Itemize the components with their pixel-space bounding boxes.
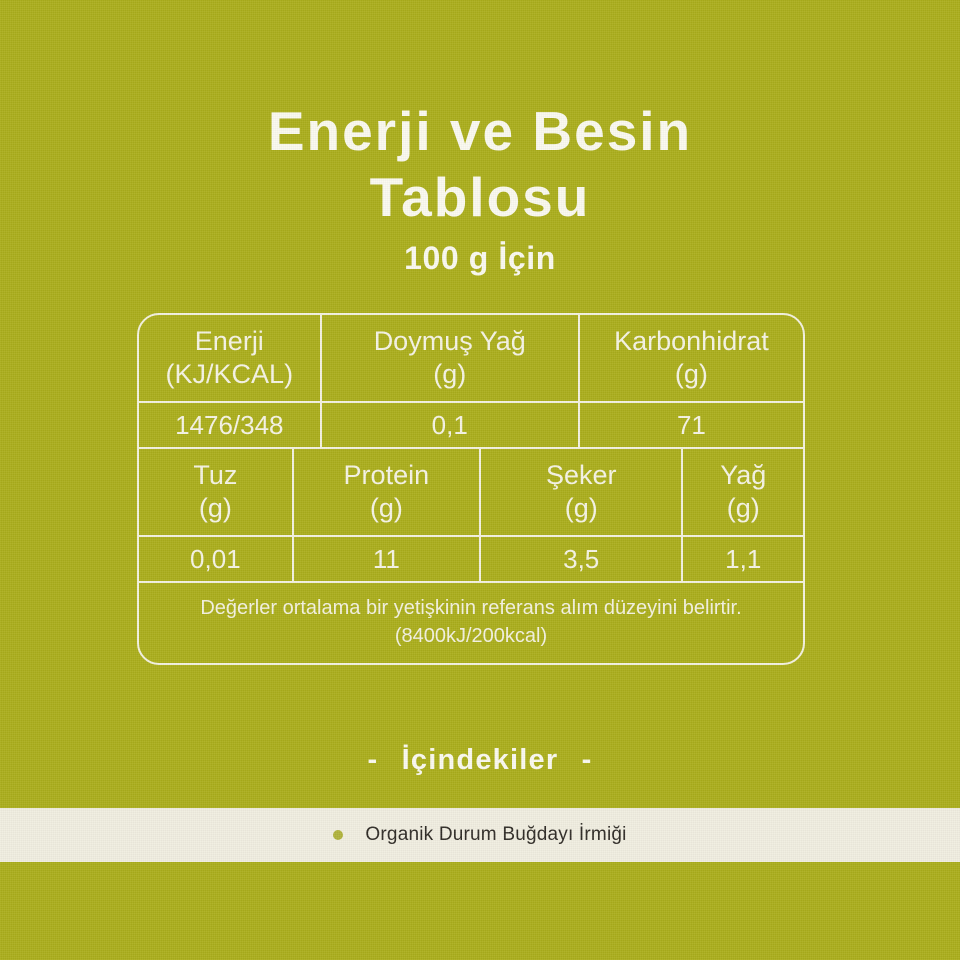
ingredient-strip: Organik Durum Buğdayı İrmiği <box>0 808 960 862</box>
table-value-cell-energy: 1476/348 <box>139 403 320 447</box>
header-unit: (g) <box>565 492 598 525</box>
table-value-cell-sugar: 3,5 <box>479 537 682 581</box>
table-header-row-2: Tuz (g) Protein (g) Şeker (g) Yağ (g) <box>139 447 803 535</box>
bullet-icon <box>333 830 343 840</box>
nutrition-table: Enerji (KJ/KCAL) Doymuş Yağ (g) Karbonhi… <box>137 313 805 665</box>
header-name: Şeker <box>546 459 617 492</box>
header-name: Karbonhidrat <box>614 325 769 358</box>
page-title-line-2: Tablosu <box>0 164 960 230</box>
heading-block: Enerji ve Besin Tablosu 100 g İçin <box>0 98 960 280</box>
header-name: Enerji <box>195 325 264 358</box>
table-value-cell-saturated-fat: 0,1 <box>320 403 578 447</box>
footnote-line-1: Değerler ortalama bir yetişkinin referan… <box>200 597 741 619</box>
table-header-cell-fat: Yağ (g) <box>681 449 803 535</box>
table-header-cell-salt: Tuz (g) <box>139 449 292 535</box>
table-header-cell-carbohydrate: Karbonhidrat (g) <box>578 315 803 401</box>
serving-size-subtitle: 100 g İçin <box>0 236 960 280</box>
header-unit: (g) <box>433 358 466 391</box>
header-unit: (g) <box>199 492 232 525</box>
table-header-cell-protein: Protein (g) <box>292 449 479 535</box>
dash-left: - <box>368 744 379 777</box>
dash-right: - <box>582 744 593 777</box>
table-header-cell-energy: Enerji (KJ/KCAL) <box>139 315 320 401</box>
page-title-line-1: Enerji ve Besin <box>0 98 960 164</box>
table-header-cell-sugar: Şeker (g) <box>479 449 682 535</box>
nutrition-label-page: Enerji ve Besin Tablosu 100 g İçin Enerj… <box>0 0 960 960</box>
ingredients-heading-label: İçindekiler <box>402 744 559 776</box>
header-name: Doymuş Yağ <box>374 325 526 358</box>
header-name: Tuz <box>193 459 237 492</box>
ingredients-heading: - İçindekiler - <box>0 744 960 777</box>
list-item: Organik Durum Buğdayı İrmiği <box>333 824 626 846</box>
header-unit: (g) <box>675 358 708 391</box>
table-value-cell-fat: 1,1 <box>681 537 803 581</box>
table-value-row-1: 1476/348 0,1 71 <box>139 401 803 447</box>
header-unit: (KJ/KCAL) <box>166 358 294 391</box>
ingredient-label: Organik Durum Buğdayı İrmiği <box>365 824 626 846</box>
header-unit: (g) <box>727 492 760 525</box>
table-value-row-2: 0,01 11 3,5 1,1 <box>139 535 803 581</box>
table-header-row-1: Enerji (KJ/KCAL) Doymuş Yağ (g) Karbonhi… <box>139 315 803 401</box>
table-value-cell-salt: 0,01 <box>139 537 292 581</box>
table-value-cell-carbohydrate: 71 <box>578 403 803 447</box>
header-name: Protein <box>344 459 430 492</box>
table-footnote: Değerler ortalama bir yetişkinin referan… <box>139 581 803 663</box>
header-name: Yağ <box>720 459 766 492</box>
header-unit: (g) <box>370 492 403 525</box>
footnote-line-2: (8400kJ/200kcal) <box>157 622 785 650</box>
table-value-cell-protein: 11 <box>292 537 479 581</box>
table-header-cell-saturated-fat: Doymuş Yağ (g) <box>320 315 578 401</box>
